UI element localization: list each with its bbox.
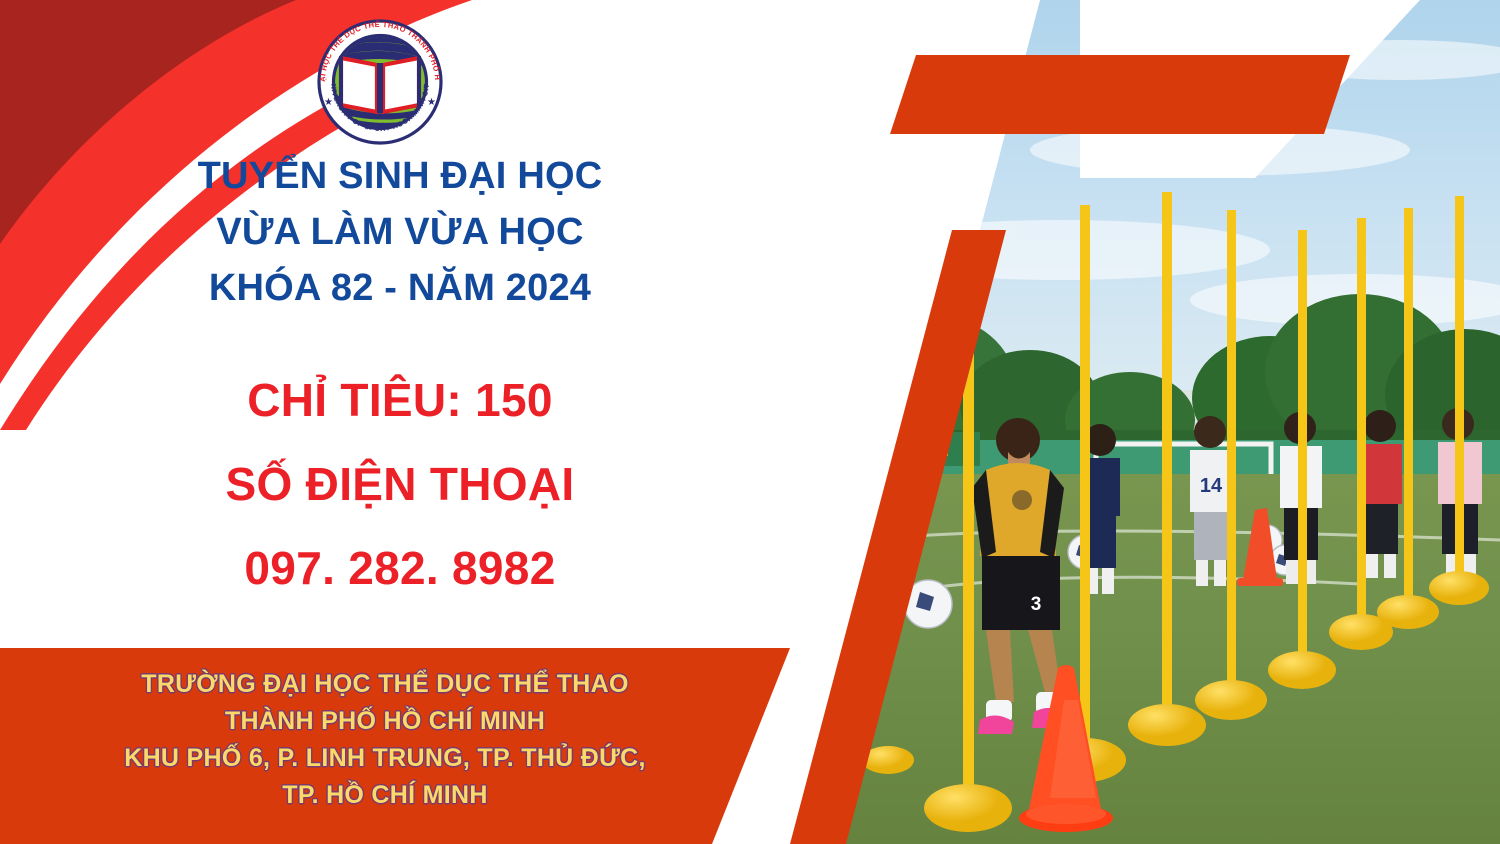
address-line-3: KHU PHỐ 6, P. LINH TRUNG, TP. THỦ ĐỨC, <box>0 740 770 777</box>
headline-line-3: KHÓA 82 - NĂM 2024 <box>40 260 760 316</box>
address-line-2: THÀNH PHỐ HỒ CHÍ MINH <box>0 703 770 740</box>
poster-root: TRƯỜNG ĐẠI HỌC THỂ DỤC THỂ THAO THÀNH PH… <box>0 0 1500 844</box>
book-icon <box>337 56 423 113</box>
address-banner-text: TRƯỜNG ĐẠI HỌC THỂ DỤC THỂ THAO THÀNH PH… <box>0 666 770 814</box>
headline-line-1: TUYỂN SINH ĐẠI HỌC <box>40 148 760 204</box>
svg-text:14: 14 <box>1200 475 1223 497</box>
accent-bar-horizontal <box>890 55 1350 134</box>
phone-label: SỐ ĐIỆN THOẠI <box>40 442 760 526</box>
address-line-4: TP. HỒ CHÍ MINH <box>0 777 770 814</box>
svg-text:3: 3 <box>1031 594 1042 615</box>
address-line-1: TRƯỜNG ĐẠI HỌC THỂ DỤC THỂ THAO <box>0 666 770 703</box>
quota-line: CHỈ TIÊU: 150 <box>40 358 760 442</box>
headline-block: TUYỂN SINH ĐẠI HỌC VỪA LÀM VỪA HỌC KHÓA … <box>40 148 760 316</box>
headline-line-2: VỪA LÀM VỪA HỌC <box>40 204 760 260</box>
highlight-block: CHỈ TIÊU: 150 SỐ ĐIỆN THOẠI 097. 282. 89… <box>40 358 760 610</box>
university-logo: TRƯỜNG ĐẠI HỌC THỂ DỤC THỂ THAO THÀNH PH… <box>307 8 453 150</box>
phone-number[interactable]: 097. 282. 8982 <box>40 526 760 610</box>
star-icon-right: ★ <box>427 97 436 108</box>
star-icon-left: ★ <box>324 97 333 108</box>
